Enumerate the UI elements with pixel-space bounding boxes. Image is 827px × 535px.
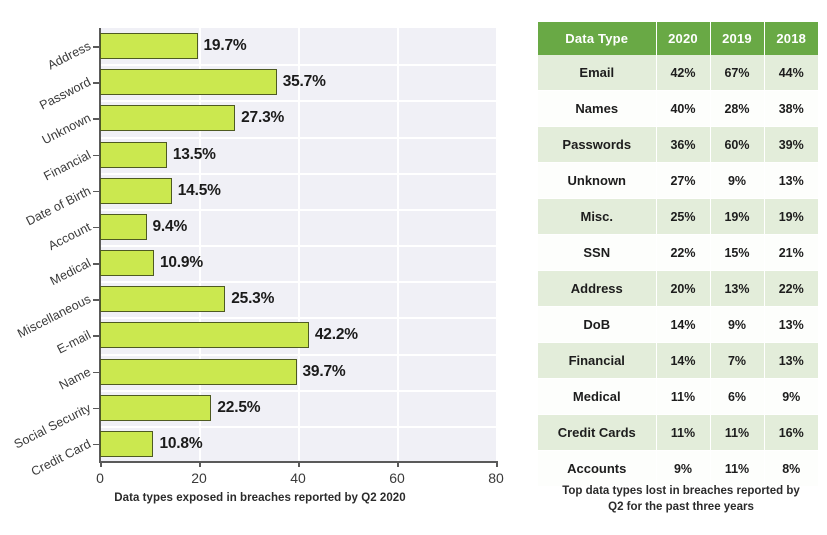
x-axis-tick (100, 461, 102, 467)
x-axis-tick (298, 461, 300, 467)
table-cell-2019: 19% (710, 199, 764, 235)
column-header-2020: 2020 (656, 22, 710, 55)
table-cell-2018: 21% (764, 235, 818, 271)
table-header-row: Data Type 2020 2019 2018 (538, 22, 818, 55)
table-row: SSN22%15%21% (538, 235, 818, 271)
chart-bar (100, 286, 225, 312)
y-axis-tick (93, 444, 99, 446)
table-cell-data-type: Credit Cards (538, 415, 656, 451)
chart-bar-value-label: 22.5% (217, 399, 260, 417)
chart-bar-value-label: 27.3% (241, 109, 284, 127)
table-cell-2020: 11% (656, 415, 710, 451)
y-axis-tick (93, 372, 99, 374)
y-axis-tick (93, 263, 99, 265)
table-caption-line-1: Top data types lost in breaches reported… (535, 484, 827, 500)
table-cell-data-type: Financial (538, 343, 656, 379)
table-cell-2019: 13% (710, 271, 764, 307)
table-cell-2019: 60% (710, 127, 764, 163)
y-axis-tick (93, 155, 99, 157)
chart-bar-value-label: 25.3% (231, 290, 274, 308)
y-axis-tick (93, 299, 99, 301)
y-axis-tick (93, 408, 99, 410)
x-axis-tick (199, 461, 201, 467)
x-axis-tick-label: 20 (191, 470, 207, 486)
x-axis-tick-label: 40 (290, 470, 306, 486)
gridline-horizontal (100, 209, 496, 211)
table-row: Passwords36%60%39% (538, 127, 818, 163)
table-row: Accounts9%11%8% (538, 451, 818, 487)
chart-bar (100, 431, 153, 457)
table-cell-data-type: Names (538, 91, 656, 127)
table-cell-2018: 8% (764, 451, 818, 487)
gridline-horizontal (100, 317, 496, 319)
chart-bar (100, 395, 211, 421)
table-cell-2020: 9% (656, 451, 710, 487)
chart-bar-value-label: 14.5% (178, 182, 221, 200)
x-axis-tick (397, 461, 399, 467)
y-axis-tick (93, 335, 99, 337)
chart-bar (100, 33, 198, 59)
table-cell-data-type: Passwords (538, 127, 656, 163)
chart-bar (100, 322, 309, 348)
table-cell-2018: 13% (764, 307, 818, 343)
chart-bar-value-label: 9.4% (153, 218, 188, 236)
table-cell-2018: 22% (764, 271, 818, 307)
table-cell-2019: 15% (710, 235, 764, 271)
chart-bar (100, 142, 167, 168)
chart-bar-value-label: 42.2% (315, 326, 358, 344)
table-cell-2018: 13% (764, 343, 818, 379)
table-cell-2019: 67% (710, 55, 764, 91)
table-cell-data-type: Unknown (538, 163, 656, 199)
table-cell-2018: 13% (764, 163, 818, 199)
gridline-horizontal (100, 100, 496, 102)
y-axis-tick (93, 46, 99, 48)
chart-bar-value-label: 35.7% (283, 73, 326, 91)
table-row: Unknown27%9%13% (538, 163, 818, 199)
table-cell-data-type: SSN (538, 235, 656, 271)
y-axis-tick (93, 118, 99, 120)
gridline-horizontal (100, 245, 496, 247)
table-cell-2019: 28% (710, 91, 764, 127)
bar-chart-panel: 19.7%35.7%27.3%13.5%14.5%9.4%10.9%25.3%4… (0, 0, 520, 535)
table-cell-2018: 19% (764, 199, 818, 235)
x-axis-tick-label: 0 (96, 470, 104, 486)
table-caption: Top data types lost in breaches reported… (535, 484, 827, 515)
gridline-horizontal (100, 64, 496, 66)
column-header-data-type: Data Type (538, 22, 656, 55)
table-cell-2020: 11% (656, 379, 710, 415)
table-row: Names40%28%38% (538, 91, 818, 127)
table-cell-2019: 7% (710, 343, 764, 379)
chart-bar-value-label: 10.8% (159, 435, 202, 453)
gridline-horizontal (100, 390, 496, 392)
gridline-horizontal (100, 281, 496, 283)
table-row: Financial14%7%13% (538, 343, 818, 379)
gridline-vertical (496, 28, 498, 462)
table-cell-2019: 9% (710, 307, 764, 343)
table-cell-data-type: Address (538, 271, 656, 307)
breach-data-table: Data Type 2020 2019 2018 Email42%67%44%N… (538, 22, 818, 487)
table-cell-data-type: Email (538, 55, 656, 91)
gridline-horizontal (100, 354, 496, 356)
table-cell-2018: 38% (764, 91, 818, 127)
table-caption-line-2: Q2 for the past three years (535, 500, 827, 516)
table-body: Email42%67%44%Names40%28%38%Passwords36%… (538, 55, 818, 487)
table-row: Credit Cards11%11%16% (538, 415, 818, 451)
table-cell-2020: 14% (656, 307, 710, 343)
data-table-panel: Data Type 2020 2019 2018 Email42%67%44%N… (535, 0, 827, 535)
x-axis-tick-label: 60 (389, 470, 405, 486)
table-cell-data-type: Accounts (538, 451, 656, 487)
table-cell-2018: 39% (764, 127, 818, 163)
chart-bar (100, 250, 154, 276)
column-header-2019: 2019 (710, 22, 764, 55)
table-cell-2019: 9% (710, 163, 764, 199)
table-cell-data-type: DoB (538, 307, 656, 343)
table-cell-2020: 20% (656, 271, 710, 307)
table-cell-data-type: Misc. (538, 199, 656, 235)
table-cell-2020: 22% (656, 235, 710, 271)
table-row: Email42%67%44% (538, 55, 818, 91)
chart-bar-value-label: 10.9% (160, 254, 203, 272)
chart-bar (100, 178, 172, 204)
table-cell-2018: 16% (764, 415, 818, 451)
table-cell-2020: 40% (656, 91, 710, 127)
chart-bar (100, 69, 277, 95)
table-cell-2020: 27% (656, 163, 710, 199)
column-header-2018: 2018 (764, 22, 818, 55)
table-cell-2020: 36% (656, 127, 710, 163)
table-cell-2019: 6% (710, 379, 764, 415)
table-cell-2019: 11% (710, 415, 764, 451)
table-cell-data-type: Medical (538, 379, 656, 415)
table-row: Medical11%6%9% (538, 379, 818, 415)
gridline-horizontal (100, 173, 496, 175)
chart-bar-value-label: 19.7% (204, 37, 247, 55)
chart-bar-value-label: 13.5% (173, 146, 216, 164)
table-cell-2020: 14% (656, 343, 710, 379)
table-row: Address20%13%22% (538, 271, 818, 307)
table-row: DoB14%9%13% (538, 307, 818, 343)
table-cell-2019: 11% (710, 451, 764, 487)
gridline-horizontal (100, 137, 496, 139)
chart-bar (100, 214, 147, 240)
table-cell-2020: 25% (656, 199, 710, 235)
table-row: Misc.25%19%19% (538, 199, 818, 235)
gridline-horizontal (100, 426, 496, 428)
y-axis-tick (93, 82, 99, 84)
y-axis-tick (93, 191, 99, 193)
y-axis-tick (93, 227, 99, 229)
table-cell-2018: 44% (764, 55, 818, 91)
chart-bar (100, 359, 297, 385)
chart-bar-value-label: 39.7% (303, 363, 346, 381)
x-axis-tick (496, 461, 498, 467)
chart-caption: Data types exposed in breaches reported … (0, 492, 520, 504)
table-cell-2020: 42% (656, 55, 710, 91)
table-cell-2018: 9% (764, 379, 818, 415)
x-axis-tick-label: 80 (488, 470, 504, 486)
chart-bar (100, 105, 235, 131)
